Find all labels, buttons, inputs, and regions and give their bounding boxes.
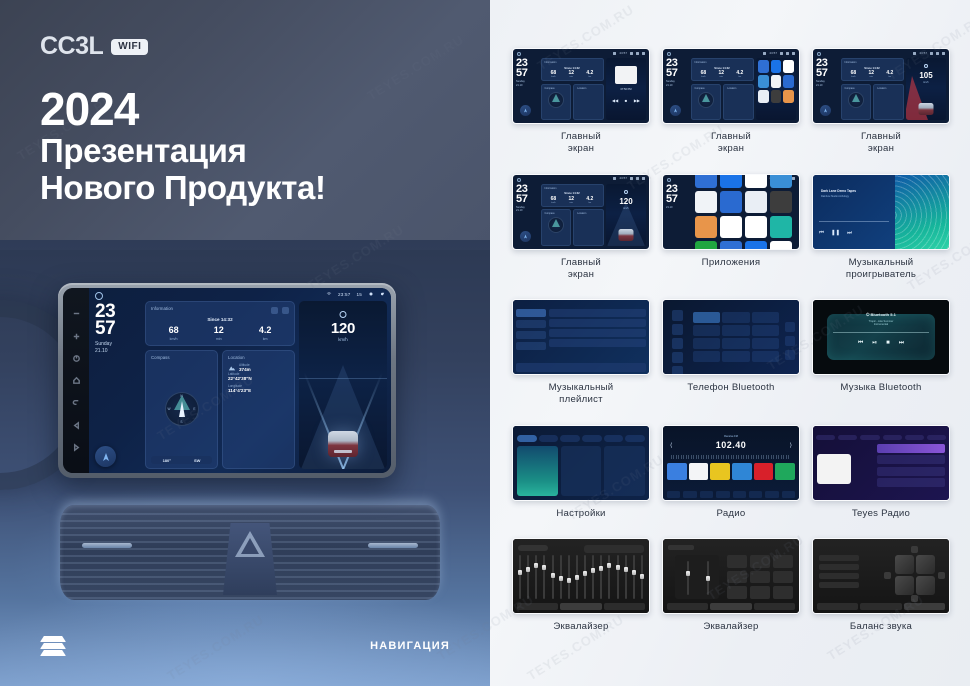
thumb-status-bar: 23:57 [913,52,945,55]
screenshot-gallery-panel: 23:57 2357 Sunday21.10 Information Since… [490,0,970,686]
wifi-badge: WIFI [111,39,148,55]
thumb-playlist-items [549,309,646,364]
thumb-widgets: Information Since 14:32 68km/h12min4.2km… [541,184,604,246]
thumb-volume-icon [630,177,633,180]
thumb-back-icon [942,52,945,55]
thumb-back-icon [792,177,795,180]
thumbnail-caption: Teyes Радио [852,508,910,520]
thumb-back-icon [642,177,645,180]
thumb-settings-tabs [517,435,645,442]
compass-direction-value: SW [194,458,200,463]
navigation-arrow-icon [523,234,528,239]
clock-day: Sunday [95,341,141,348]
thumb-radio-presets [667,463,795,480]
head-unit-content: 23 57 Sunday 21.10 [93,301,387,469]
thumbnail-caption: Эквалайзер [703,621,758,633]
head-unit-screen-frame: 23:57 15 23 57 Sunday [63,288,391,473]
stat-value: 68 [169,326,179,335]
gallery-item[interactable]: 23:57 Dark Lane Demo TapesRainbow Studio… [812,174,950,282]
thumb-information-card: Information Since 14:32 68km/h12min4.2km [541,58,604,81]
thumbnail-image[interactable]: 23:57 2357 Sunday21.10 Information Since… [812,48,950,124]
stat-unit: km [259,337,272,341]
thumb-home-icon[interactable] [517,178,521,182]
thumbnail-caption: Баланс звука [850,621,912,633]
gallery-item[interactable]: 23:57 Телефон Bluetooth [662,299,800,407]
thumb-wifi-icon [763,52,766,55]
thumb-nav-fab[interactable] [820,105,831,116]
thumb-player-left [813,175,897,249]
gallery-item[interactable]: 23:57 Баланс звука [812,538,950,633]
thumbnail-caption: Главныйэкран [861,131,901,156]
mountain-icon [228,364,236,372]
information-card[interactable]: Information Since 14:32 68 [145,301,295,346]
headline-line-2: Нового Продукта! [40,170,326,207]
thumb-player-visualizer [895,175,949,249]
thumb-settings-icon [936,52,939,55]
head-unit-ui[interactable]: 23:57 15 23 57 Sunday [89,288,391,473]
compass-needle [179,401,185,417]
volume-minus-icon[interactable] [72,309,81,318]
vent-slot-right [368,543,418,548]
thumb-settings-cards [517,446,645,496]
thumbnail-caption: Приложения [702,257,761,269]
navigation-arrow-icon [673,108,678,113]
thumb-teyes-art [817,454,851,484]
compass-west-label: W [168,407,171,411]
wifi-icon [326,291,332,297]
driving-view-widget[interactable]: 120 km/h [299,301,387,469]
thumbnail-image[interactable]: 23:57 [812,538,950,614]
compass-heading-value: 180° [163,458,171,463]
thumbnail-caption: Настройки [556,508,605,520]
thumbnail-image[interactable]: 23:57 2357 Sunday21.10 Information Since… [662,48,800,124]
brand-name: CC3L [40,32,103,61]
thumb-wifi-icon [613,177,616,180]
thumb-nav-fab[interactable] [520,105,531,116]
thumb-information-card: Information Since 14:32 68km/h12min4.2km [841,58,904,81]
status-bar: 23:57 15 [326,291,386,297]
thumb-volume-icon [780,52,783,55]
stat-avg-speed: 68 km/h [169,326,179,341]
back-icon[interactable] [72,398,81,407]
navigation-label: НАВИГАЦИЯ [370,640,450,652]
thumbnail-image[interactable]: 23:57 [512,425,650,501]
thumbnail-image[interactable]: 23:57 Dark Lane Demo TapesRainbow Studio… [812,174,950,250]
compass-south-label: S [180,420,182,424]
gallery-item[interactable]: 23:57 2357 Sunday21.10 Information Since… [812,48,950,156]
thumbnail-caption: Музыкальныйплейлист [549,382,614,407]
layers-icon [40,636,66,656]
thumb-location-card: Location [573,209,603,246]
thumbnail-image[interactable]: 23:57 2357 Sunday21.10 Information Since… [512,48,650,124]
head-unit-device: 23:57 15 23 57 Sunday [58,283,396,478]
thumb-driving-widget: 120km/h [606,184,646,246]
headline-year: 2024 [40,85,326,133]
navigation-arrow-icon [823,108,828,113]
thumb-location-card: Location [723,84,753,121]
thumb-app-shortcuts [756,58,796,120]
gallery-item[interactable]: 23:57 Музыкальныйплейлист [512,299,650,407]
next-track-icon[interactable] [72,443,81,452]
thumb-widgets: Information Since 14:32 68km/h12min4.2km… [691,58,754,120]
thumb-home-icon[interactable] [667,178,671,182]
clock-widget[interactable]: 23 57 Sunday 21.10 [93,301,141,469]
trip-stats: 68 km/h 12 min 4.2 km [151,326,289,341]
compass-dial: N S E W [165,392,199,426]
gallery-item[interactable]: 23:57 2357 Sunday21.10 Information Since… [512,174,650,282]
thumb-music-widget: 07:50 PM ◀◀■▶▶ [606,58,646,120]
latitude-value: 22°42'38"N [228,376,289,381]
thumbnail-caption: Радио [717,508,746,520]
thumbnail-caption: Музыка Bluetooth [840,382,921,394]
gallery-item[interactable]: 23:57 Эквалайзер [662,538,800,633]
thumbnail-caption: Эквалайзер [553,621,608,633]
thumb-playlist-playbar [516,363,646,372]
thumb-teyes-tabs [816,435,946,440]
status-time: 23:57 [338,292,351,297]
volume-plus-icon[interactable] [72,332,81,341]
thumbnail-caption: Музыкальныйпроигрыватель [846,257,916,282]
clock-minutes: 57 [95,320,141,337]
thumb-settings-icon [636,52,639,55]
thumbnail-image[interactable]: 23:57 [512,538,650,614]
stat-unit: km/h [169,337,179,341]
thumbnail-caption: Главныйэкран [561,131,601,156]
headline-block: 2024 Презентация Нового Продукта! [40,85,326,207]
thumb-playlist-tabs [516,309,546,364]
stat-value: 12 [214,326,224,335]
thumb-location-card: Location [573,84,603,121]
thumb-status-bar: 23:57 [613,52,645,55]
thumb-information-card: Information Since 14:32 68km/h12min4.2km [691,58,754,81]
gallery-item[interactable]: 23:57 ⏻ Bluetooth 5.1 Tropic - Like Summ… [812,299,950,407]
thumbnail-caption: Телефон Bluetooth [687,382,774,394]
compass-east-label: E [193,407,195,411]
home-icon[interactable] [72,376,81,385]
dashboard-air-vent [60,505,440,600]
lead-car-graphic [328,431,358,457]
stat-unit: min [214,337,224,341]
back-arrow-icon[interactable] [380,291,386,297]
thumb-home-icon[interactable] [817,52,821,56]
thumb-back-icon [642,52,645,55]
thumbnail-image[interactable]: 23:57 ⏻ Bluetooth 5.1 Tropic - Like Summ… [812,299,950,375]
thumb-compass-card: Compass [541,84,571,121]
head-unit-side-buttons[interactable] [63,288,89,473]
thumb-volume-icon [930,52,933,55]
thumbnail-image[interactable]: 23:57 [662,299,800,375]
compass-card[interactable]: Compass N S E W [145,350,218,469]
status-volume: 15 [356,292,362,297]
gallery-item[interactable]: 23:57 Receive FM ⟨⟩ 102.40 Радио [662,425,800,520]
thumb-wifi-icon [613,52,616,55]
headlight-icon [340,311,347,318]
longitude-value: 114°4'23"E [228,388,289,393]
gallery-item[interactable]: 23:57 2357 Sunday21.10 Information Since… [662,48,800,156]
ui-home-indicator-icon[interactable] [95,292,103,300]
altitude-row: Altitude 374m [228,363,289,372]
thumbnail-caption: Главныйэкран [561,257,601,282]
speed-unit: km/h [299,337,387,342]
thumbnail-image[interactable]: 23:57 Receive FM ⟨⟩ 102.40 [662,425,800,501]
thumb-wifi-icon [913,52,916,55]
thumb-compass-card: Compass [541,209,571,246]
thumb-location-card: Location [873,84,903,121]
thumbnail-image[interactable]: 23:57 [512,299,650,375]
location-card[interactable]: Location Altitude 374m [222,350,295,469]
slide-footer: НАВИГАЦИЯ [0,636,490,656]
thumb-home-icon[interactable] [517,52,521,56]
thumb-dialpad [693,312,779,362]
thumb-dialer-tabs [667,310,687,366]
navigation-arrow-icon [523,108,528,113]
thumbnail-image[interactable]: 23:57 [662,538,800,614]
longitude-row: Longitude 114°4'23"E [228,384,289,393]
expand-icon[interactable] [282,307,289,314]
presentation-slide: 23:57 15 23 57 Sunday [0,0,970,686]
settings-icon[interactable] [368,291,374,297]
thumbnail-caption: Главныйэкран [711,131,751,156]
power-icon[interactable] [72,354,81,363]
thumb-clock: 235721.10 [666,184,688,246]
thumb-widgets: Information Since 14:32 68km/h12min4.2km… [841,58,904,120]
thumb-balance-presets [819,555,859,591]
thumb-driving-widget: 105km/h [906,58,946,120]
headline-line-1: Презентация [40,133,326,170]
location-title: Location [228,355,289,360]
thumbnail-grid: 23:57 2357 Sunday21.10 Information Since… [512,48,952,633]
thumbnail-image[interactable]: 23:57 2357 Sunday21.10 Information Since… [512,174,650,250]
thumb-teyes-list [877,444,945,496]
thumbnail-image[interactable]: 23:57 235721.10 [662,174,800,250]
thumb-settings-icon [786,52,789,55]
thumb-compass-card: Compass [841,84,871,121]
gallery-item[interactable]: 23:57 2357 Sunday21.10 Information Since… [512,48,650,156]
speed-value: 120 [299,320,387,337]
thumb-status-bar: 23:57 [763,52,795,55]
thumb-dialer-actions [785,322,795,364]
thumb-nav-fab[interactable] [670,105,681,116]
thumb-information-card: Information Since 14:32 68km/h12min4.2km [541,184,604,207]
left-hero-panel: 23:57 15 23 57 Sunday [0,0,490,686]
thumb-volume-icon [630,52,633,55]
vent-slot-left [82,543,132,548]
stat-duration: 12 min [214,326,224,341]
stat-value: 4.2 [259,326,272,335]
widgets-column: Information Since 14:32 68 [145,301,295,469]
trip-since-label: Since 14:32 [151,317,289,322]
hazard-triangle-inner [241,538,259,554]
information-title: Information [151,306,173,311]
gallery-item[interactable]: 23:57 235721.10 Приложения [662,174,800,282]
compass-north-label: N [180,394,182,398]
clock-date: 21.10 [95,348,141,355]
thumb-back-icon [792,52,795,55]
thumb-status-bar: 23:57 [613,177,645,180]
gallery-item[interactable]: 23:57 Настройки [512,425,650,520]
thumb-home-icon[interactable] [667,52,671,56]
thumb-balance-pad [895,555,935,595]
stat-distance: 4.2 km [259,326,272,341]
thumb-widgets: Information Since 14:32 68km/h12min4.2km… [541,58,604,120]
gallery-item[interactable]: 23:57 Эквалайзер [512,538,650,633]
compass-title: Compass [151,355,212,360]
thumb-settings-icon [636,177,639,180]
thumb-app-grid [691,184,797,246]
latitude-row: Latitude 22°42'38"N [228,372,289,381]
prev-track-icon[interactable] [72,421,81,430]
navigation-fab-button[interactable] [95,446,116,467]
thumbnail-image[interactable]: 23:57 [812,425,950,501]
lower-widgets-row: Compass N S E W [145,350,295,469]
brand-logo: CC3L WIFI [40,32,148,61]
thumb-eq-sliders [519,555,643,599]
refresh-icon[interactable] [271,307,278,314]
thumb-nav-fab[interactable] [520,231,531,242]
gallery-item[interactable]: 23:57 Teyes Радио [812,425,950,520]
navigation-arrow-icon [101,452,111,462]
thumb-compass-card: Compass [691,84,721,121]
